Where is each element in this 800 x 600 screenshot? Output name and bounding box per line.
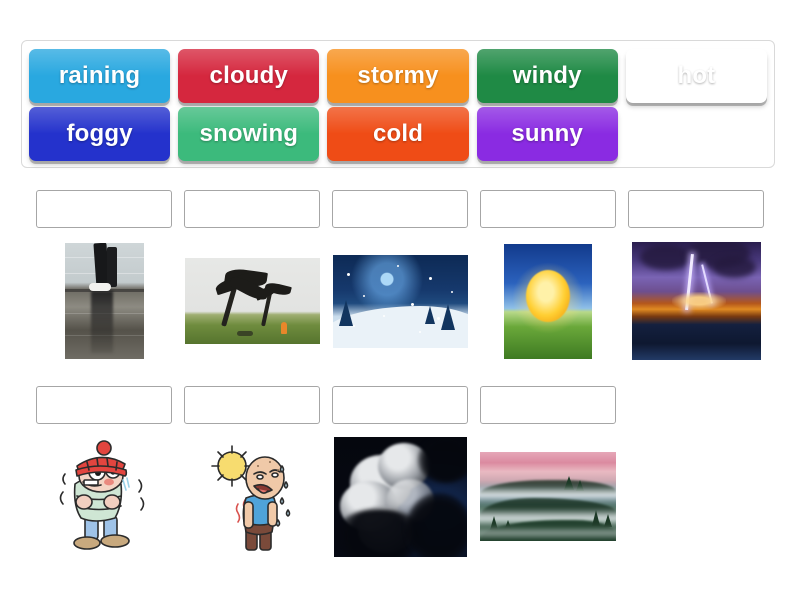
drop-slot-1-4[interactable] — [480, 190, 616, 228]
drop-slot-1-2[interactable] — [184, 190, 320, 228]
picture-cell-windy — [184, 240, 320, 370]
drop-slot-1-3[interactable] — [332, 190, 468, 228]
picture-cell-sunny — [480, 240, 616, 370]
word-tile-sunny[interactable]: sunny — [477, 107, 618, 161]
picture-foggy — [480, 452, 616, 541]
drop-slot-2-1[interactable] — [36, 386, 172, 424]
word-tile-foggy[interactable]: foggy — [29, 107, 170, 161]
cold-cartoon-icon — [57, 440, 151, 556]
picture-cell-foggy — [480, 436, 616, 566]
word-tile-stormy[interactable]: stormy — [327, 49, 468, 103]
drop-slot-2-2[interactable] — [184, 386, 320, 424]
drop-slot-2-3[interactable] — [332, 386, 468, 424]
word-tile-hot[interactable]: hot — [626, 49, 767, 103]
picture-hot — [208, 444, 296, 554]
word-tile-cold[interactable]: cold — [327, 107, 468, 161]
picture-raining — [65, 243, 144, 359]
picture-windy — [185, 258, 320, 344]
drop-slot-row-1 — [36, 190, 764, 228]
picture-sunny — [504, 244, 592, 359]
word-bank-row-1: raining cloudy stormy windy hot — [29, 49, 767, 103]
picture-stormy — [632, 242, 761, 360]
word-bank-empty-cell — [626, 107, 767, 161]
picture-cloudy — [334, 437, 467, 557]
picture-row-2 — [36, 436, 776, 566]
picture-snowing — [333, 255, 468, 348]
word-bank-row-2: foggy snowing cold sunny — [29, 107, 767, 161]
picture-cold — [57, 440, 151, 556]
picture-cell-cold — [36, 436, 172, 566]
picture-row-1 — [36, 240, 776, 370]
drop-slot-1-5[interactable] — [628, 190, 764, 228]
picture-cell-snowing — [332, 240, 468, 370]
drop-slot-1-1[interactable] — [36, 190, 172, 228]
word-tile-windy[interactable]: windy — [477, 49, 618, 103]
drop-slot-row-2 — [36, 386, 616, 424]
word-tile-raining[interactable]: raining — [29, 49, 170, 103]
activity-stage: raining cloudy stormy windy hot foggy sn… — [0, 0, 800, 600]
drop-slot-2-4[interactable] — [480, 386, 616, 424]
picture-cell-raining — [36, 240, 172, 370]
picture-cell-cloudy — [332, 436, 468, 566]
picture-cell-hot — [184, 436, 320, 566]
word-tile-snowing[interactable]: snowing — [178, 107, 319, 161]
hot-cartoon-icon — [208, 444, 296, 554]
word-tile-cloudy[interactable]: cloudy — [178, 49, 319, 103]
word-bank: raining cloudy stormy windy hot foggy sn… — [21, 40, 775, 168]
picture-cell-stormy — [628, 240, 764, 370]
